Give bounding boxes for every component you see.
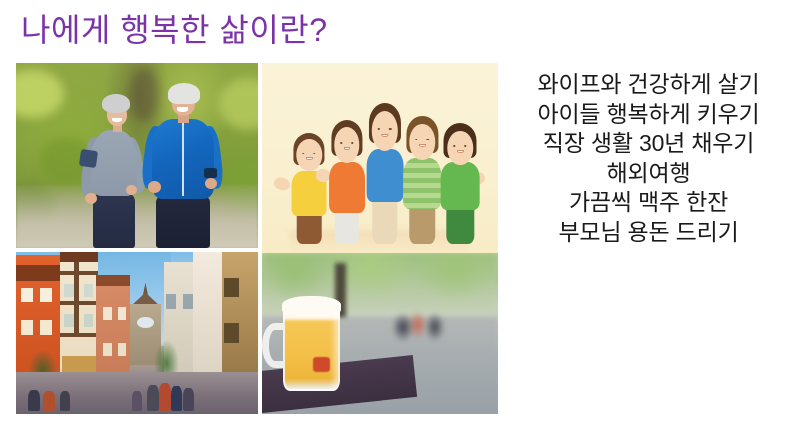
photo-european-village-street [16,252,258,414]
wish-list: 와이프와 건강하게 살기 아이들 행복하게 키우기 직장 생활 30년 채우기 … [506,70,791,247]
jogging-couple-image [16,63,258,248]
wish-item-3: 직장 생활 30년 채우기 [506,129,791,159]
village-street-image [16,252,258,414]
wish-item-4: 해외여행 [506,159,791,189]
photo-beer-mug [262,253,498,414]
beer-mug-image [262,253,498,414]
slide-canvas: 나에게 행복한 삶이란? [0,0,791,445]
photo-children-illustration [262,63,498,253]
page-title: 나에게 행복한 삶이란? [21,10,328,50]
children-illustration-image [262,63,498,253]
wish-item-1: 와이프와 건강하게 살기 [506,70,791,100]
wish-item-5: 가끔씩 맥주 한잔 [506,188,791,218]
photo-grid [16,63,498,414]
wish-item-2: 아이들 행복하게 키우기 [506,100,791,130]
wish-item-6: 부모님 용돈 드리기 [506,218,791,248]
photo-senior-couple-jogging [16,63,258,248]
